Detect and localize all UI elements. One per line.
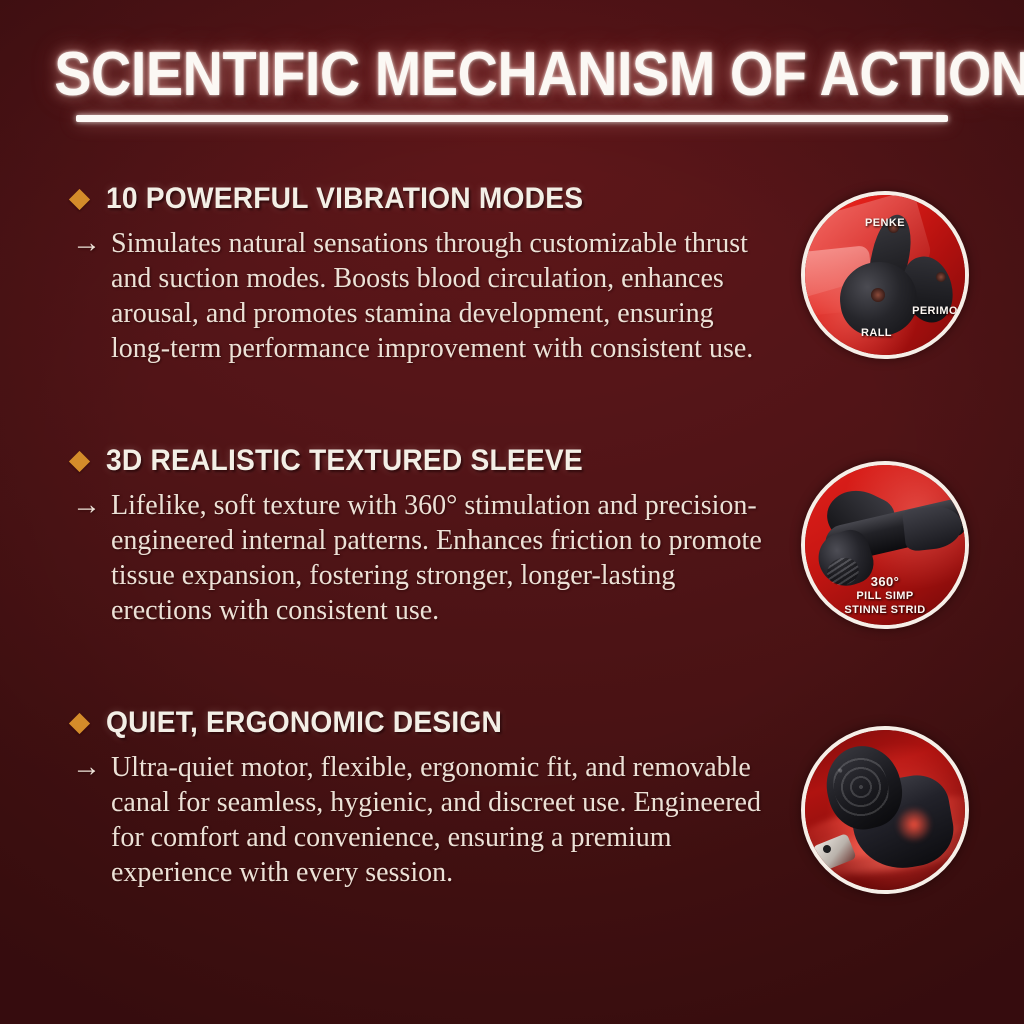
diamond-icon [69, 188, 90, 209]
photo-caption: RALL [805, 327, 969, 340]
arrow-right-icon: → [72, 488, 101, 628]
arrow-right-icon: → [72, 226, 101, 366]
product-image [805, 730, 965, 890]
photo-caption: PERIMOL [805, 305, 969, 318]
photo-caption: 360° [805, 575, 965, 588]
photo-caption: PENKE [805, 217, 965, 230]
product-photo-vibration-modes: PENKE PERIMOL RALL [801, 191, 969, 359]
feature-title: QUIET, ERGONOMIC DESIGN [106, 706, 502, 740]
diamond-icon [69, 712, 90, 733]
feature-title: 3D REALISTIC TEXTURED SLEEVE [106, 444, 583, 478]
feature-body: → Ultra-quiet motor, flexible, ergonomic… [72, 750, 762, 890]
feature-description: Ultra-quiet motor, flexible, ergonomic f… [111, 750, 762, 890]
photo-caption: STINNE STRID [805, 604, 965, 617]
product-photo-ergonomic-design [801, 726, 969, 894]
photo-caption: PILL SIMP [805, 590, 965, 603]
title-underline [76, 115, 948, 122]
page-title: SCIENTIFIC MECHANISM OF ACTION [54, 42, 1024, 108]
feature-title: 10 POWERFUL VIBRATION MODES [106, 182, 583, 216]
product-photo-textured-sleeve: 360° PILL SIMP STINNE STRID [801, 461, 969, 629]
poster-header: SCIENTIFIC MECHANISM OF ACTION [0, 42, 1024, 122]
infographic-poster: SCIENTIFIC MECHANISM OF ACTION 10 POWERF… [0, 0, 1024, 1024]
feature-description: Simulates natural sensations through cus… [111, 226, 762, 366]
feature-body: → Simulates natural sensations through c… [72, 226, 762, 366]
arrow-right-icon: → [72, 750, 101, 890]
diamond-icon [69, 450, 90, 471]
feature-body: → Lifelike, soft texture with 360° stimu… [72, 488, 762, 628]
feature-description: Lifelike, soft texture with 360° stimula… [111, 488, 762, 628]
